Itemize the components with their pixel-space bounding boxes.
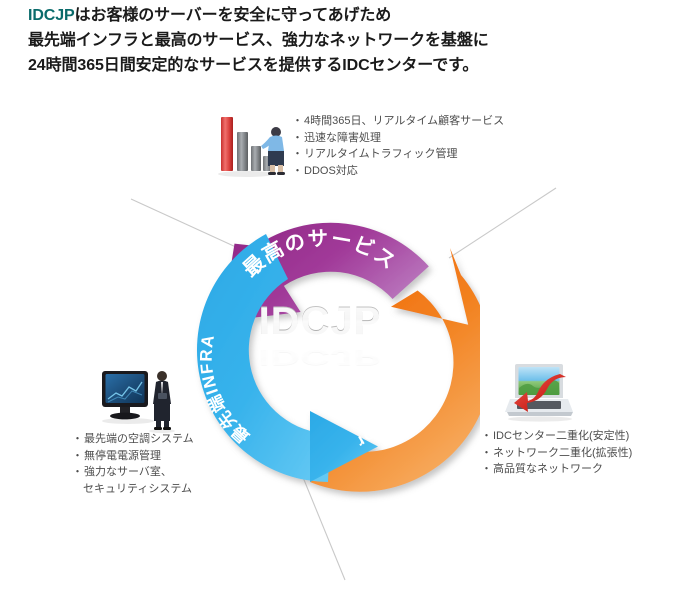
bullet-dot: ・ [292,165,303,177]
bullet-text: IDCセンター二重化(安定性) [493,430,629,442]
bar-chart-person-icon [213,108,287,180]
bullet-dot: ・ [72,433,83,445]
bullet-item: ・4時間365日、リアルタイム顧客サービス [292,113,504,130]
laptop-arrow-icon [504,358,576,424]
bullet-item: ・無停電電源管理 [72,448,194,465]
bullet-item: ・ネットワーク二重化(拡張性) [481,445,632,462]
bullet-item: ・リアルタイムトラフィック管理 [292,146,504,163]
bullet-text: 強力なサーバ室、 [84,466,172,478]
bullet-text: 高品質なネットワーク [493,463,603,475]
callout-infra-bullets: ・最先端の空調システム ・無停電電源管理 ・強力なサーバ室、 セキュリティシステ… [72,431,194,497]
bullet-item: ・強力なサーバ室、 [72,464,194,481]
bullet-dot: ・ [481,463,492,475]
bullet-item-continuation: セキュリティシステム [72,481,194,498]
callout-service-bullets: ・4時間365日、リアルタイム顧客サービス ・迅速な障害処理 ・リアルタイムトラ… [292,113,504,179]
bullet-item: ・迅速な障害処理 [292,130,504,147]
bullet-text: 無停電電源管理 [84,450,161,462]
bullet-text: 迅速な障害処理 [304,132,381,144]
cycle-arrows: 最高のサービス 強力なNetwork 最先端INFRA [160,190,480,510]
bullet-item: ・最先端の空調システム [72,431,194,448]
bullet-text: 4時間365日、リアルタイム顧客サービス [304,115,504,127]
bullet-item: ・IDCセンター二重化(安定性) [481,428,632,445]
bullet-item: ・DDOS対応 [292,163,504,180]
monitor-businessman-icon [98,363,182,433]
bullet-dot: ・ [72,466,83,478]
bullet-text: リアルタイムトラフィック管理 [304,148,457,160]
bullet-dot: ・ [292,148,303,160]
bullet-dot: ・ [481,447,492,459]
bullet-dot: ・ [72,450,83,462]
callout-network-bullets: ・IDCセンター二重化(安定性) ・ネットワーク二重化(拡張性) ・高品質なネッ… [481,428,632,478]
bullet-item: ・高品質なネットワーク [481,461,632,478]
bullet-text: ネットワーク二重化(拡張性) [493,447,632,459]
bullet-dot: ・ [292,132,303,144]
bullet-dot: ・ [292,115,303,127]
bullet-text: DDOS対応 [304,165,358,177]
bullet-text: 最先端の空調システム [84,433,194,445]
bullet-dot: ・ [481,430,492,442]
cycle-diagram: 最高のサービス 強力なNetwork 最先端INFRA IDCJP IDCJP [0,0,680,600]
